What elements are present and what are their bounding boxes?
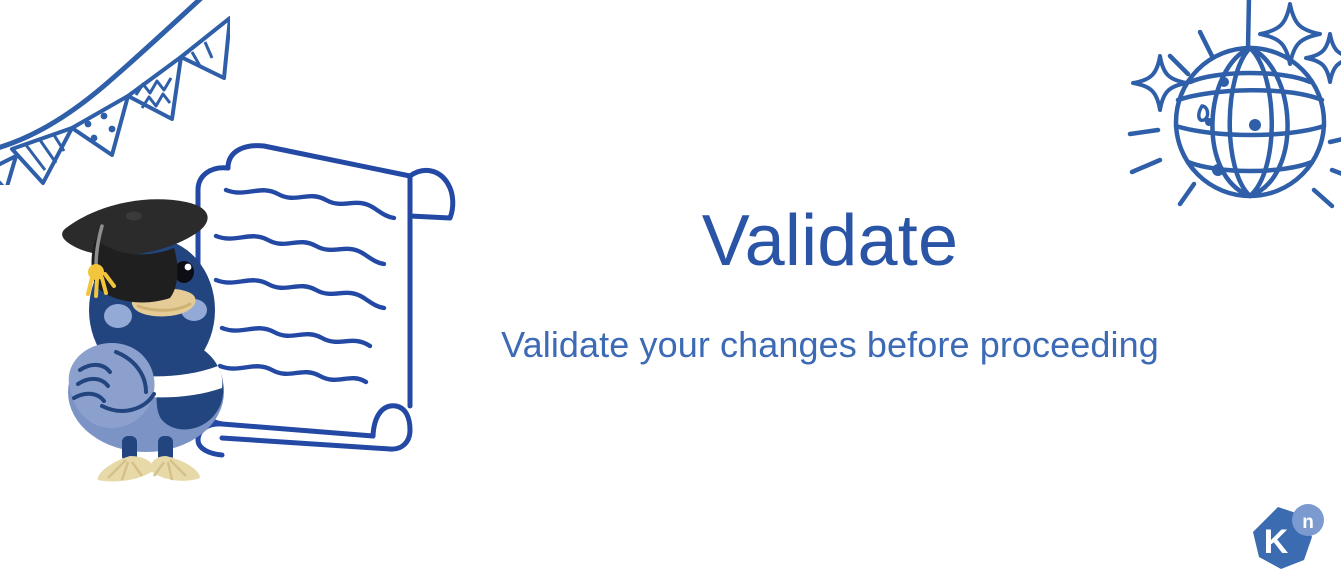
disco-ball-icon <box>1118 0 1341 229</box>
headline-block: Validate Validate your changes before pr… <box>470 205 1190 363</box>
page-subtitle: Validate your changes before proceeding <box>470 277 1190 363</box>
page-title: Validate <box>470 205 1190 277</box>
graduate-bird-mascot <box>58 192 244 482</box>
party-bunting-icon <box>0 0 230 185</box>
logo-letter-n: n <box>1302 512 1314 533</box>
validate-splash-screen: Validate Validate your changes before pr… <box>0 0 1341 585</box>
certificate-scroll-icon <box>178 138 463 463</box>
kn-logo: K n <box>1248 503 1326 577</box>
logo-letter-k: K <box>1264 523 1289 561</box>
